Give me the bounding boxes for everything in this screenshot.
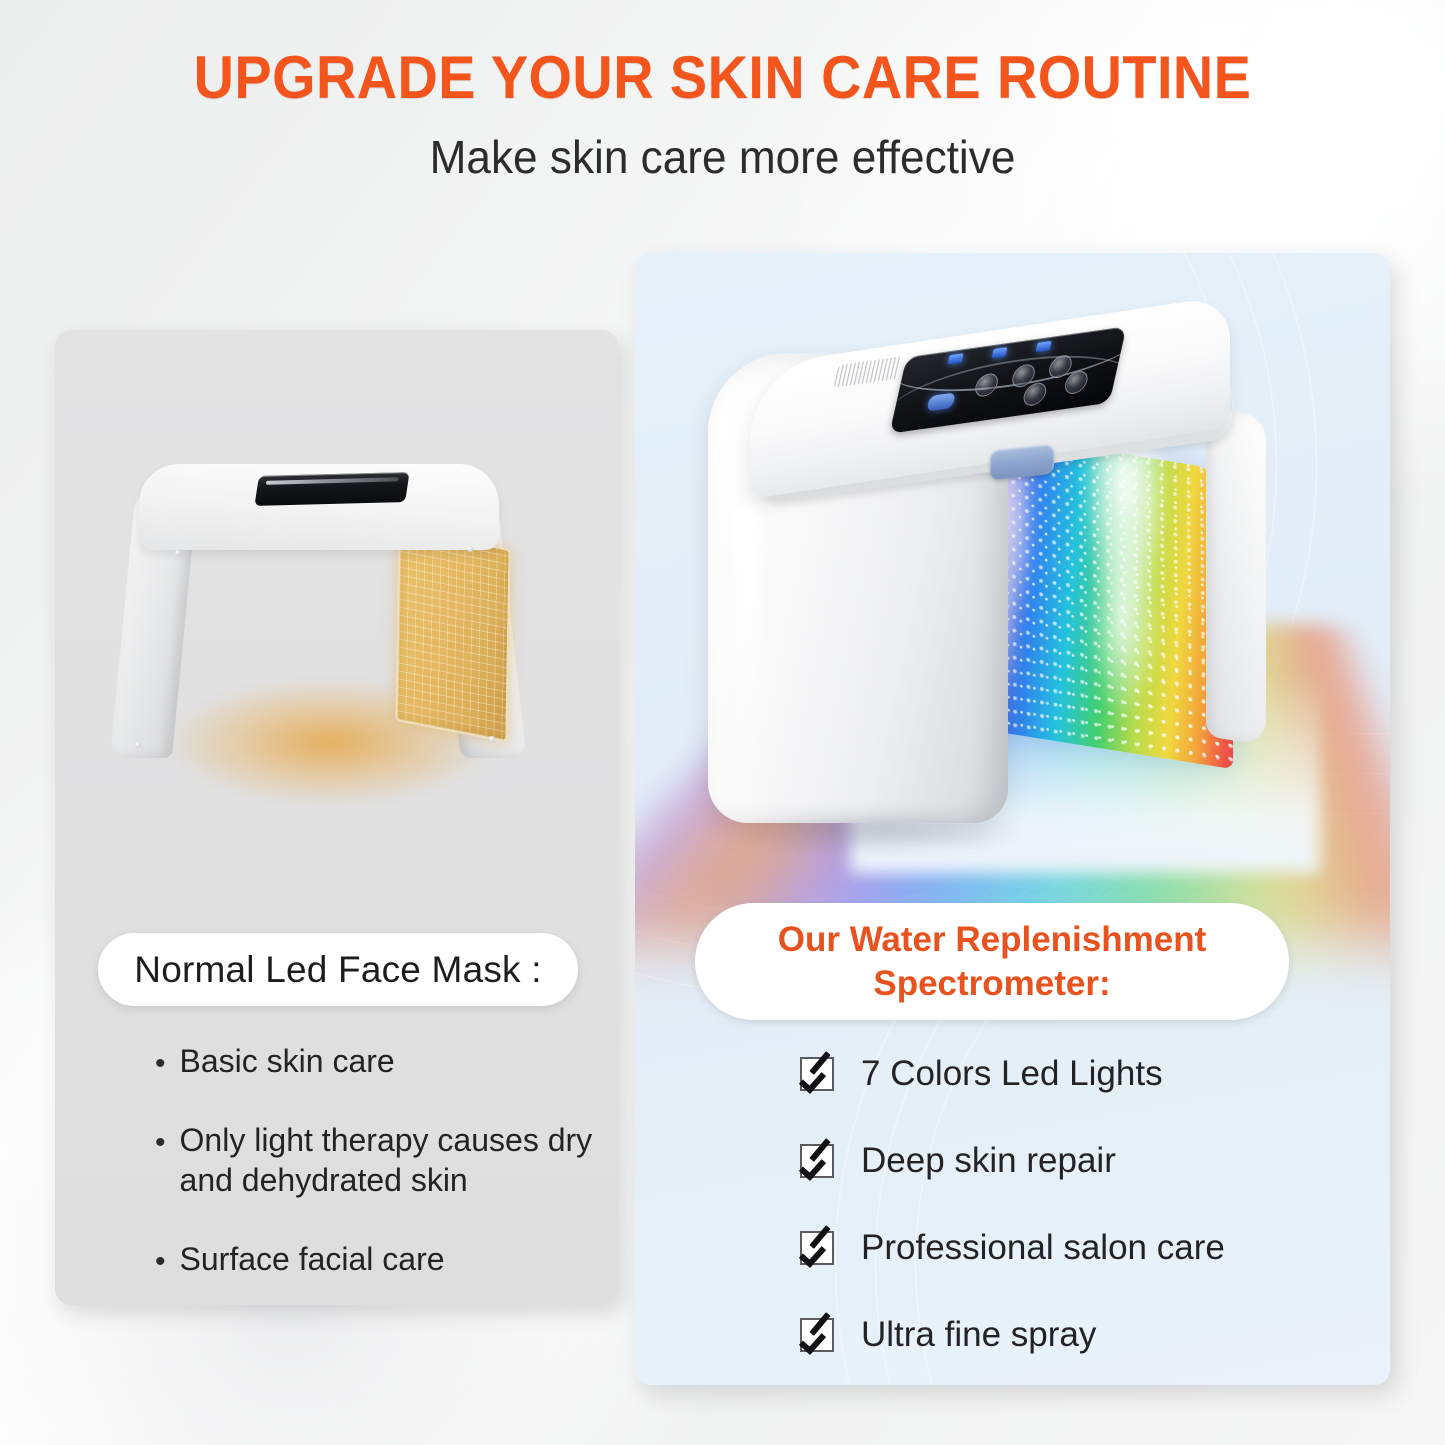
right-panel-heading: Our Water ReplenishmentSpectrometer: [778, 918, 1207, 1005]
list-item: Deep skin repair [800, 1140, 1360, 1182]
right-panel-heading-line1: Our Water Replenishment [778, 920, 1207, 959]
right-panel-heading-pill: Our Water ReplenishmentSpectrometer: [695, 903, 1289, 1020]
checkbox-checked-icon [800, 1144, 834, 1178]
page-subtitle: Make skin care more effective [29, 132, 1416, 183]
screw-icon [135, 742, 141, 748]
list-item: • Surface facial care [155, 1240, 605, 1279]
list-item-label: Surface facial care [180, 1240, 445, 1279]
checkbox-checked-icon [800, 1231, 834, 1265]
list-item-label: Deep skin repair [861, 1140, 1116, 1182]
list-item: • Basic skin care [155, 1042, 605, 1081]
list-item-label: Ultra fine spray [861, 1314, 1096, 1356]
list-item: Professional salon care [800, 1227, 1360, 1269]
header: UPGRADE YOUR SKIN CARE ROUTINE Make skin… [0, 46, 1445, 182]
amber-led-panel [395, 527, 510, 742]
bullet-dot-icon: • [155, 1240, 166, 1277]
device-control-strip [254, 472, 409, 506]
bullet-dot-icon: • [155, 1042, 166, 1079]
device-right-pillar [1206, 406, 1266, 746]
left-comparison-card: Normal Led Face Mask : • Basic skin care… [55, 330, 618, 1305]
list-item-label: 7 Colors Led Lights [861, 1053, 1163, 1095]
right-panel-heading-line2: Spectrometer: [873, 964, 1110, 1003]
device-top-arch [139, 464, 499, 550]
list-item-label: Basic skin care [180, 1042, 395, 1081]
list-item-label: Professional salon care [861, 1227, 1225, 1269]
page-title: UPGRADE YOUR SKIN CARE ROUTINE [51, 46, 1395, 110]
checkbox-checked-icon [800, 1057, 834, 1091]
left-panel-heading-pill: Normal Led Face Mask : [98, 933, 578, 1006]
right-panel-feature-list: 7 Colors Led Lights Deep skin repair Pro… [800, 1053, 1360, 1385]
left-panel-heading: Normal Led Face Mask : [134, 949, 541, 991]
left-panel-bullet-list: • Basic skin care • Only light therapy c… [155, 1042, 605, 1305]
right-comparison-card: Our Water ReplenishmentSpectrometer: 7 C… [635, 253, 1390, 1385]
list-item-label: Only light therapy causes dry and dehydr… [180, 1121, 605, 1200]
screw-icon [175, 550, 181, 556]
list-item: Ultra fine spray [800, 1314, 1360, 1356]
list-item: • Only light therapy causes dry and dehy… [155, 1121, 605, 1200]
infographic-stage: UPGRADE YOUR SKIN CARE ROUTINE Make skin… [0, 0, 1445, 1445]
device-drop-shadow [730, 811, 1030, 853]
list-item: 7 Colors Led Lights [800, 1053, 1360, 1095]
water-replenishment-spectrometer-image [690, 325, 1330, 925]
screw-icon [489, 736, 495, 742]
normal-led-face-mask-image [115, 442, 545, 842]
checkbox-checked-icon [800, 1318, 834, 1352]
bullet-dot-icon: • [155, 1121, 166, 1158]
screw-icon [467, 546, 473, 552]
